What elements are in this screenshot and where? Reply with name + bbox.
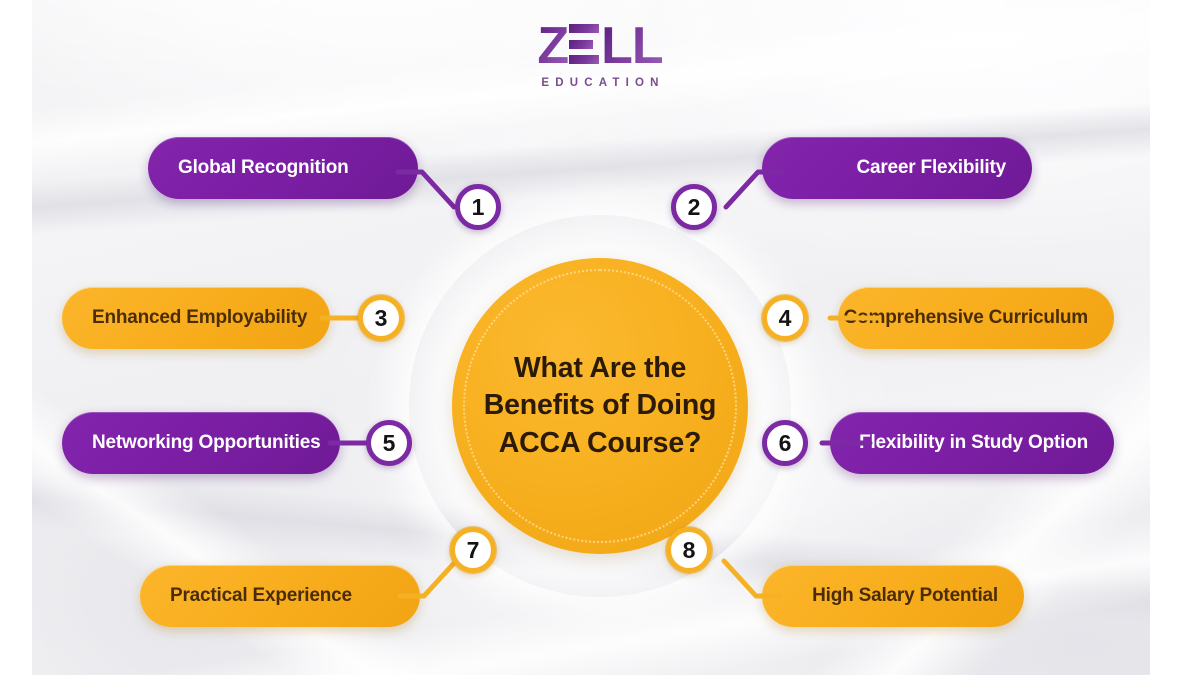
benefit-label-1[interactable]: Global Recognition bbox=[148, 137, 418, 199]
central-hub: What Are the Benefits of Doing ACCA Cour… bbox=[452, 258, 748, 554]
benefit-label-8[interactable]: High Salary Potential bbox=[762, 565, 1024, 627]
connector-line-4 bbox=[828, 313, 878, 323]
acca-benefits-infographic: Z LL EDUCATION What Are the Benefits of … bbox=[0, 0, 1200, 675]
logo-letters-ll: LL bbox=[601, 24, 663, 69]
logo-letter-z: Z bbox=[537, 24, 568, 69]
page-title: What Are the Benefits of Doing ACCA Cour… bbox=[462, 350, 739, 461]
benefit-badge-7[interactable]: 7 bbox=[450, 527, 496, 573]
zell-education-logo: Z LL EDUCATION bbox=[0, 24, 1200, 89]
benefit-badge-2[interactable]: 2 bbox=[671, 184, 717, 230]
benefit-badge-8[interactable]: 8 bbox=[666, 527, 712, 573]
benefit-badge-1[interactable]: 1 bbox=[455, 184, 501, 230]
benefit-label-5[interactable]: Networking Opportunities bbox=[62, 412, 340, 474]
benefit-label-7[interactable]: Practical Experience bbox=[140, 565, 420, 627]
connector-line-8 bbox=[700, 552, 780, 600]
hub-title-line-2: Benefits of Doing bbox=[484, 389, 717, 421]
benefit-label-2[interactable]: Career Flexibility bbox=[762, 137, 1032, 199]
benefit-badge-4[interactable]: 4 bbox=[762, 295, 808, 341]
hub-title-line-3: ACCA Course? bbox=[499, 427, 701, 459]
benefit-badge-5[interactable]: 5 bbox=[366, 420, 412, 466]
benefit-label-3[interactable]: Enhanced Employability bbox=[62, 287, 330, 349]
logo-wordmark: Z LL bbox=[537, 24, 662, 69]
hub-title-line-1: What Are the bbox=[514, 352, 686, 384]
benefit-badge-6[interactable]: 6 bbox=[762, 420, 808, 466]
connector-line-2 bbox=[712, 168, 782, 218]
logo-tagline: EDUCATION bbox=[0, 77, 1200, 89]
connector-line-6 bbox=[820, 438, 870, 448]
benefit-badge-3[interactable]: 3 bbox=[358, 295, 404, 341]
benefit-label-6[interactable]: Flexibility in Study Option bbox=[830, 412, 1114, 474]
stylised-e-icon bbox=[569, 24, 599, 64]
